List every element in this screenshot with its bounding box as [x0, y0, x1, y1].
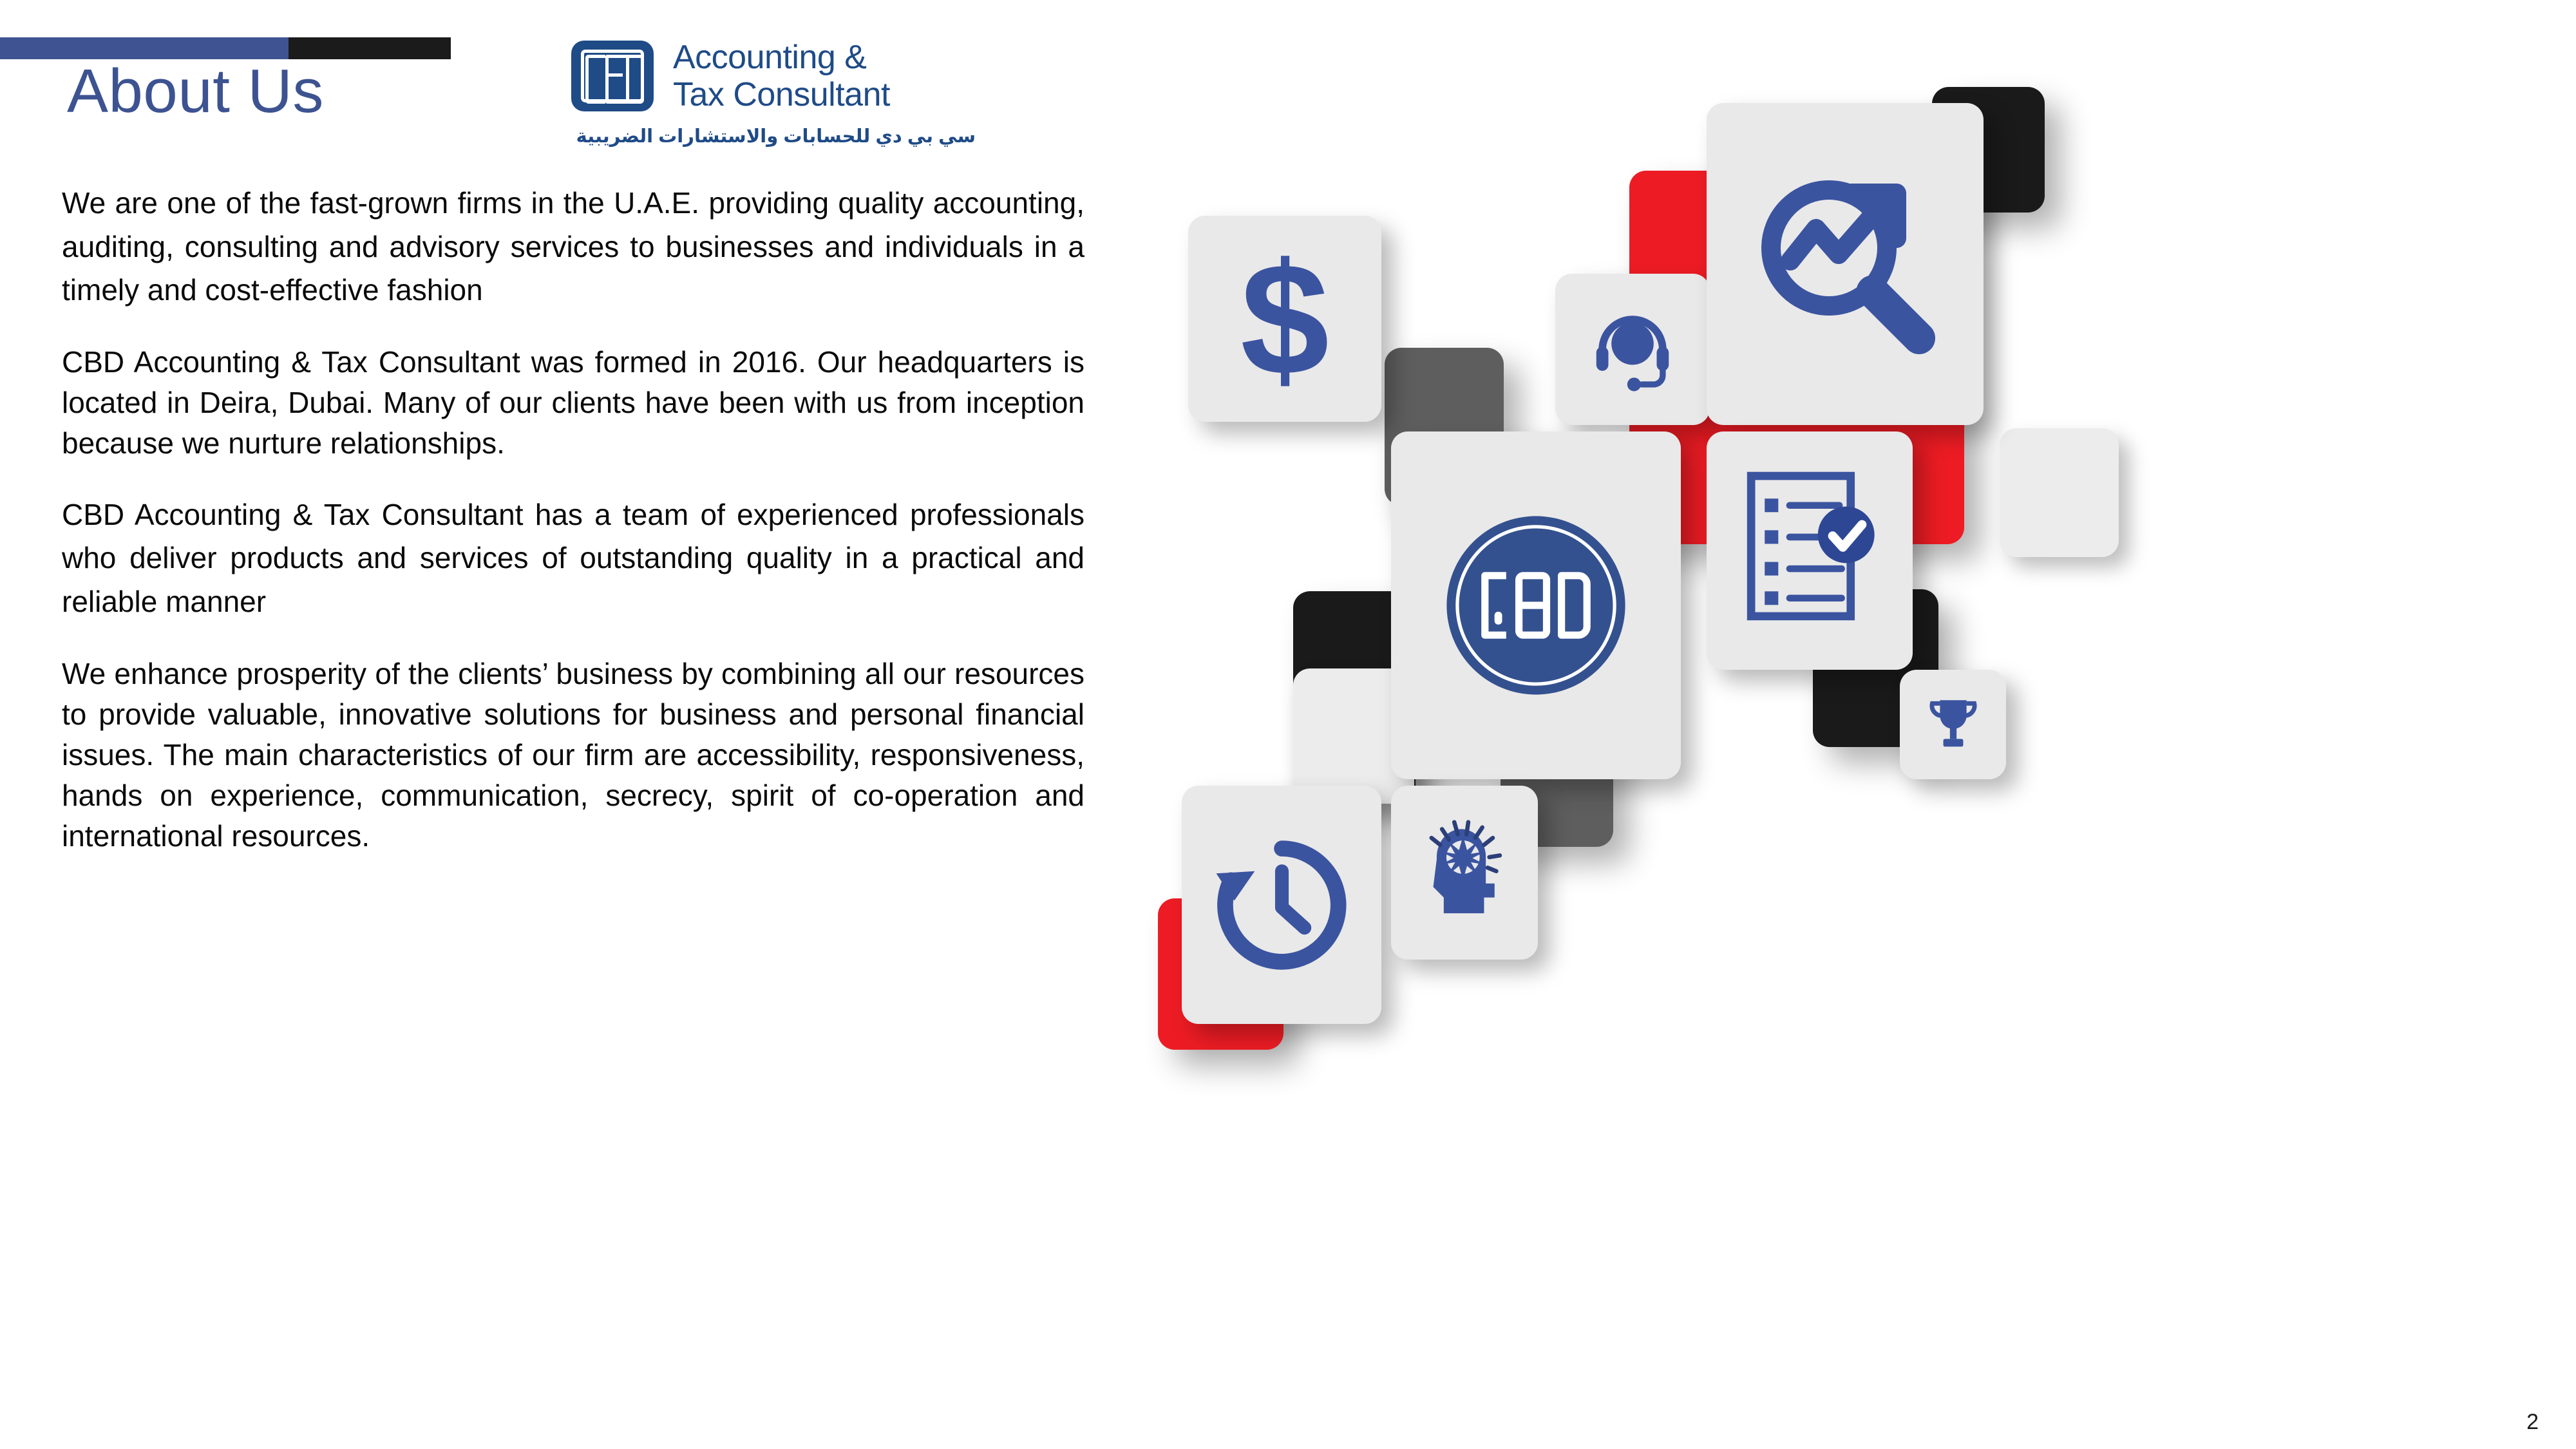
page-title: About Us: [67, 59, 324, 124]
cbd-logo-icon: [1430, 499, 1642, 712]
growth-magnifier-icon: [1742, 161, 1948, 367]
clock-history-icon: [1209, 833, 1354, 978]
paragraph-3: CBD Accounting & Tax Consultant has a te…: [62, 493, 1084, 624]
svg-text:$: $: [1240, 245, 1329, 393]
tile-dollar: $: [1188, 216, 1381, 422]
tile-checklist: [1707, 431, 1913, 670]
checklist-icon: [1738, 467, 1882, 634]
about-us-body: We are one of the fast-grown firms in th…: [62, 182, 1084, 886]
paragraph-4: We enhance prosperity of the clients’ bu…: [62, 654, 1084, 857]
dollar-icon: $: [1227, 245, 1343, 393]
tile-clock-history: [1182, 786, 1381, 1024]
idea-head-icon: [1408, 813, 1521, 933]
tile-headset: [1555, 274, 1710, 425]
tile-cbd-logo: [1391, 431, 1681, 779]
headset-icon: [1584, 301, 1681, 398]
tile-trophy: [1900, 670, 2006, 779]
backdrop-tile-light-right: [2000, 428, 2119, 557]
paragraph-1: We are one of the fast-grown firms in th…: [62, 182, 1084, 312]
icon-mosaic-graphic: $: [1127, 64, 2576, 1385]
accent-bar-black: [289, 37, 451, 59]
logo-arabic-text: سي بي دي للحسابات والاستشارات الضريبية: [576, 125, 976, 147]
page-number: 2: [2526, 1410, 2539, 1435]
cbd-mark-icon: [571, 41, 654, 111]
header-accent-bars: [0, 37, 451, 59]
paragraph-2: CBD Accounting & Tax Consultant was form…: [62, 342, 1084, 464]
accent-bar-blue: [0, 37, 289, 59]
company-logo: Accounting & Tax Consultant سي بي دي للح…: [499, 8, 995, 172]
trophy-icon: [1918, 689, 1989, 760]
logo-line-1: Accounting &: [673, 39, 890, 76]
tile-idea-head: [1391, 786, 1538, 960]
logo-line-2: Tax Consultant: [673, 76, 890, 113]
tile-growth-magnifier: [1707, 103, 1984, 425]
